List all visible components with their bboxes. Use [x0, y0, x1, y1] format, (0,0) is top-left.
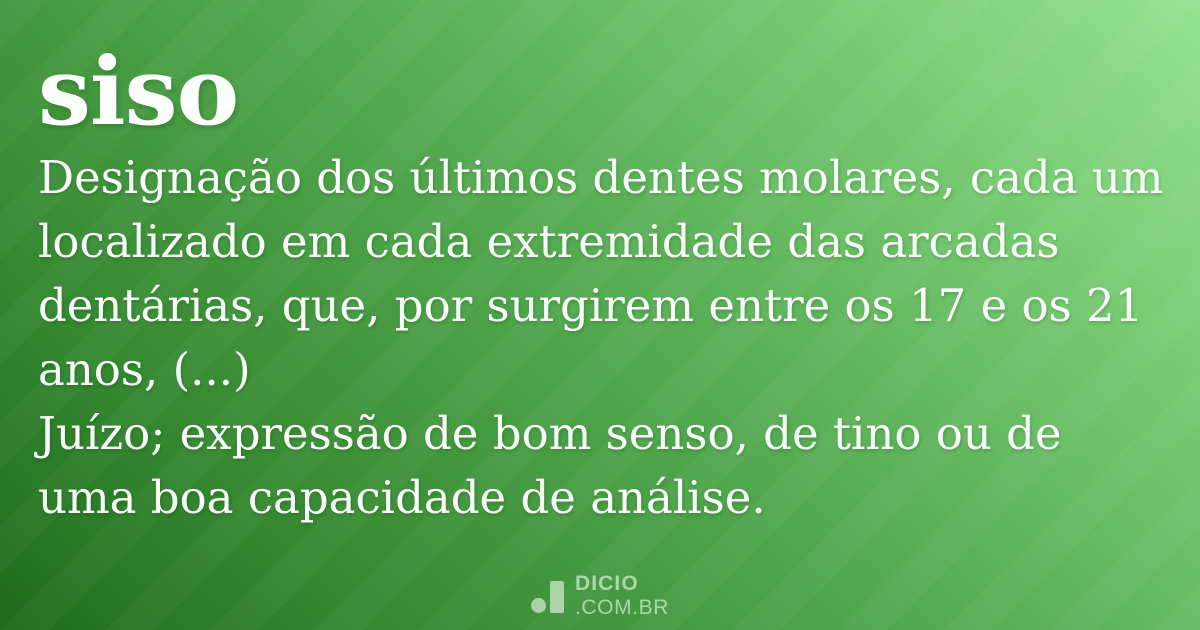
dicio-logo-mark-icon	[531, 579, 564, 613]
dicio-logo[interactable]: DICIO .COM.BR	[0, 573, 1200, 618]
card-content: siso Designação dos últimos dentes molar…	[38, 46, 1174, 529]
definition-card: siso Designação dos últimos dentes molar…	[0, 0, 1200, 630]
logo-bar-shape	[550, 581, 564, 613]
page-title: siso	[38, 46, 1174, 138]
definition-list: Designação dos últimos dentes molares, c…	[38, 146, 1174, 529]
logo-wordmark: DICIO .COM.BR	[575, 573, 669, 618]
logo-domain-suffix: .COM.BR	[575, 597, 669, 618]
logo-brand-name: DICIO	[575, 573, 669, 594]
definition-item: Juízo; expressão de bom senso, de tino o…	[38, 402, 1173, 530]
logo-circle-shape	[531, 598, 546, 613]
definition-item: Designação dos últimos dentes molares, c…	[38, 146, 1173, 402]
